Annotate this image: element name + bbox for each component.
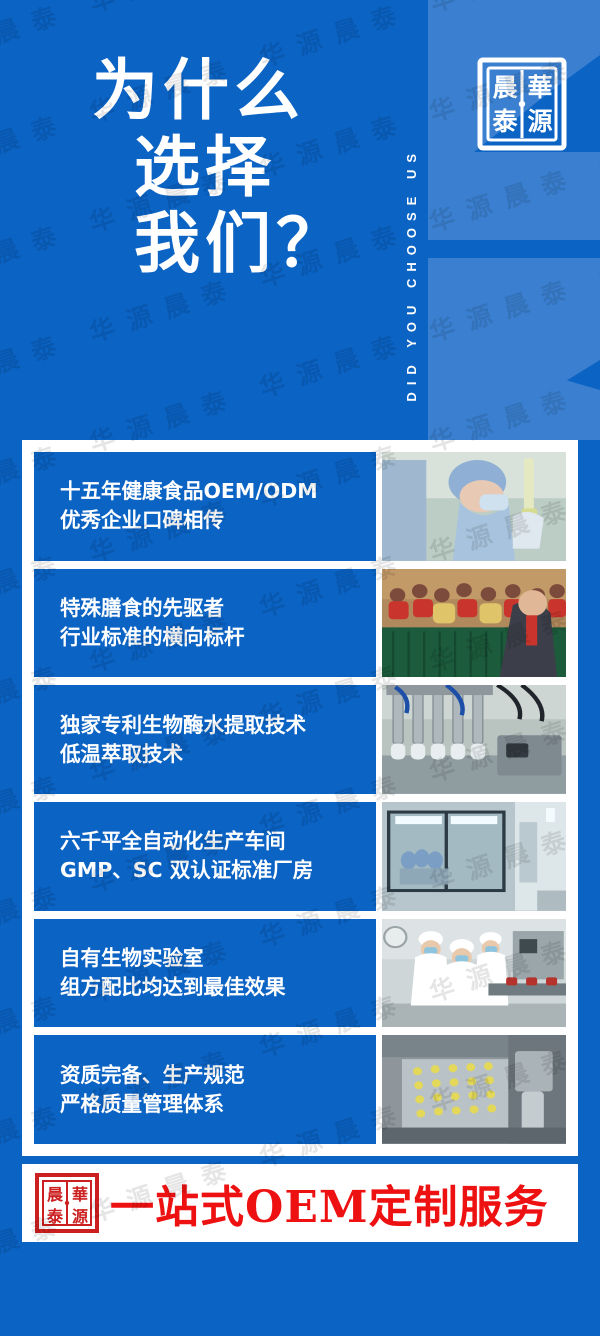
list-item[interactable]: 十五年健康食品OEM/ODM 优秀企业口碑相传 bbox=[34, 452, 566, 561]
page-title: 为什么 选择 我们？ bbox=[92, 52, 392, 282]
feature-line-1a: 十五年健康食品OEM/ODM bbox=[60, 477, 376, 506]
list-item[interactable]: 独家专利生物酶水提取技术 低温萃取技术 bbox=[34, 685, 566, 794]
feature-image-1 bbox=[382, 452, 566, 561]
feature-line-3b: 低温萃取技术 bbox=[60, 740, 376, 769]
banner-headline: 一站式OEM定制服务 bbox=[110, 1171, 549, 1235]
vertical-tagline-text: DID YOU CHOOSE US bbox=[404, 147, 419, 402]
feature-image-5 bbox=[382, 919, 566, 1028]
feature-image-4 bbox=[382, 802, 566, 911]
feature-image-3 bbox=[382, 685, 566, 794]
list-item[interactable]: 资质完备、生产规范 严格质量管理体系 bbox=[34, 1035, 566, 1144]
feature-text-3: 独家专利生物酶水提取技术 低温萃取技术 bbox=[34, 685, 376, 794]
title-line-3: 我们？ bbox=[134, 205, 392, 282]
feature-line-6b: 严格质量管理体系 bbox=[60, 1090, 376, 1119]
svg-text:華: 華 bbox=[527, 73, 552, 102]
feature-text-2: 特殊膳食的先驱者 行业标准的横向标杆 bbox=[34, 569, 376, 678]
feature-line-1b: 优秀企业口碑相传 bbox=[60, 506, 376, 535]
svg-text:泰: 泰 bbox=[46, 1207, 64, 1226]
features-panel: 十五年健康食品OEM/ODM 优秀企业口碑相传 bbox=[22, 440, 578, 1156]
feature-text-1: 十五年健康食品OEM/ODM 优秀企业口碑相传 bbox=[34, 452, 376, 561]
svg-text:華: 華 bbox=[72, 1185, 88, 1204]
svg-text:晨: 晨 bbox=[47, 1185, 64, 1204]
features-list: 十五年健康食品OEM/ODM 优秀企业口碑相传 bbox=[34, 452, 566, 1144]
feature-line-3a: 独家专利生物酶水提取技术 bbox=[60, 711, 376, 740]
svg-text:源: 源 bbox=[527, 107, 552, 136]
feature-image-6 bbox=[382, 1035, 566, 1144]
feature-line-2a: 特殊膳食的先驱者 bbox=[60, 594, 376, 623]
feature-text-4: 六千平全自动化生产车间 GMP、SC 双认证标准厂房 bbox=[34, 802, 376, 911]
title-line-2: 选择 bbox=[134, 129, 392, 206]
feature-line-4b: GMP、SC 双认证标准厂房 bbox=[60, 856, 376, 885]
feature-line-6a: 资质完备、生产规范 bbox=[60, 1061, 376, 1090]
bottom-banner: 晨 泰 華 源 一站式OEM定制服务 bbox=[22, 1164, 578, 1242]
red-seal-icon: 晨 泰 華 源 bbox=[34, 1172, 100, 1234]
list-item[interactable]: 自有生物实验室 组方配比均达到最佳效果 bbox=[34, 919, 566, 1028]
feature-line-5a: 自有生物实验室 bbox=[60, 944, 376, 973]
company-seal-icon: 晨 泰 華 源 bbox=[474, 52, 570, 156]
poster-root: 为什么 选择 我们？ DID YOU CHOOSE US 晨 泰 華 源 bbox=[0, 0, 600, 1336]
vertical-tagline: DID YOU CHOOSE US bbox=[398, 30, 424, 402]
svg-text:源: 源 bbox=[72, 1207, 88, 1226]
feature-line-2b: 行业标准的横向标杆 bbox=[60, 623, 376, 652]
feature-image-2 bbox=[382, 569, 566, 678]
list-item[interactable]: 六千平全自动化生产车间 GMP、SC 双认证标准厂房 bbox=[34, 802, 566, 911]
feature-text-5: 自有生物实验室 组方配比均达到最佳效果 bbox=[34, 919, 376, 1028]
header: 为什么 选择 我们？ DID YOU CHOOSE US 晨 泰 華 源 bbox=[0, 0, 600, 440]
svg-text:泰: 泰 bbox=[492, 107, 518, 136]
feature-line-5b: 组方配比均达到最佳效果 bbox=[60, 973, 376, 1002]
feature-line-4a: 六千平全自动化生产车间 bbox=[60, 827, 376, 856]
svg-text:晨: 晨 bbox=[492, 73, 518, 102]
list-item[interactable]: 特殊膳食的先驱者 行业标准的横向标杆 bbox=[34, 569, 566, 678]
title-line-1: 为什么 bbox=[92, 52, 392, 129]
feature-text-6: 资质完备、生产规范 严格质量管理体系 bbox=[34, 1035, 376, 1144]
